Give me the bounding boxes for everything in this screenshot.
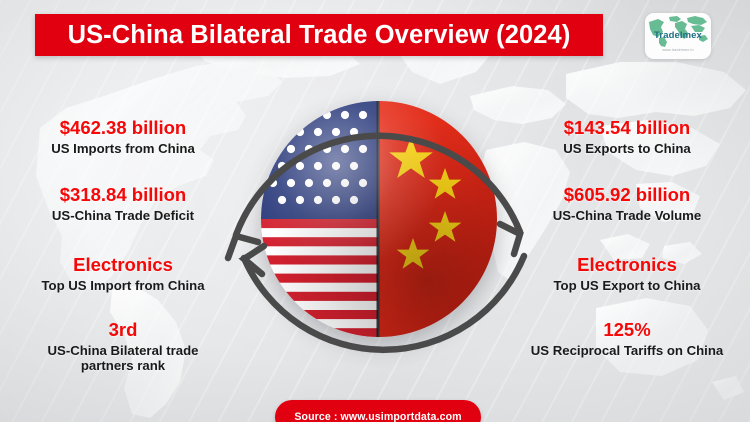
stat-label: US Exports to China: [504, 141, 750, 156]
stat-label: US Imports from China: [0, 141, 246, 156]
stat-value: Electronics: [504, 255, 750, 275]
stat-us-imports-from-china: $462.38 billion US Imports from China: [0, 118, 246, 156]
stat-value: Electronics: [0, 255, 246, 275]
stat-value: $462.38 billion: [0, 118, 246, 138]
stat-us-exports-to-china: $143.54 billion US Exports to China: [504, 118, 750, 156]
stat-us-china-trade-deficit: $318.84 billion US-China Trade Deficit: [0, 185, 246, 223]
stat-reciprocal-tariffs: 125% US Reciprocal Tariffs on China: [504, 320, 750, 358]
stat-label: Top US Export to China: [504, 278, 750, 293]
stat-value: $605.92 billion: [504, 185, 750, 205]
stat-top-us-export: Electronics Top US Export to China: [504, 255, 750, 293]
stat-value: 3rd: [22, 320, 224, 340]
page-title-banner: US-China Bilateral Trade Overview (2024): [35, 14, 603, 56]
page-title: US-China Bilateral Trade Overview (2024): [68, 21, 571, 50]
infographic-canvas: US-China Bilateral Trade Overview (2024)…: [0, 0, 750, 422]
stat-us-china-trade-volume: $605.92 billion US-China Trade Volume: [504, 185, 750, 223]
globe-sphere: [261, 101, 497, 337]
usa-china-flag-globe: [261, 101, 497, 337]
brand-logo[interactable]: TradeImex www.tradeimex.in: [645, 13, 711, 59]
source-text: Source : www.usimportdata.com: [294, 411, 461, 422]
logo-wordmark: TradeImex: [645, 30, 711, 41]
stat-label: US-China Trade Deficit: [0, 208, 246, 223]
stat-top-us-import: Electronics Top US Import from China: [0, 255, 246, 293]
flag-divider: [377, 101, 380, 337]
stat-value: 125%: [526, 320, 728, 340]
stat-value: $143.54 billion: [504, 118, 750, 138]
china-flag: [378, 101, 497, 337]
stat-value: $318.84 billion: [0, 185, 246, 205]
us-flag: [261, 101, 378, 337]
logo-tagline: www.tradeimex.in: [645, 48, 711, 52]
stat-label: Top US Import from China: [0, 278, 246, 293]
stat-label: US-China Trade Volume: [504, 208, 750, 223]
stat-label: US-China Bilateral trade partners rank: [22, 343, 224, 374]
stat-label: US Reciprocal Tariffs on China: [526, 343, 728, 358]
stat-bilateral-partner-rank: 3rd US-China Bilateral trade partners ra…: [0, 320, 246, 373]
source-badge[interactable]: Source : www.usimportdata.com: [275, 400, 481, 422]
